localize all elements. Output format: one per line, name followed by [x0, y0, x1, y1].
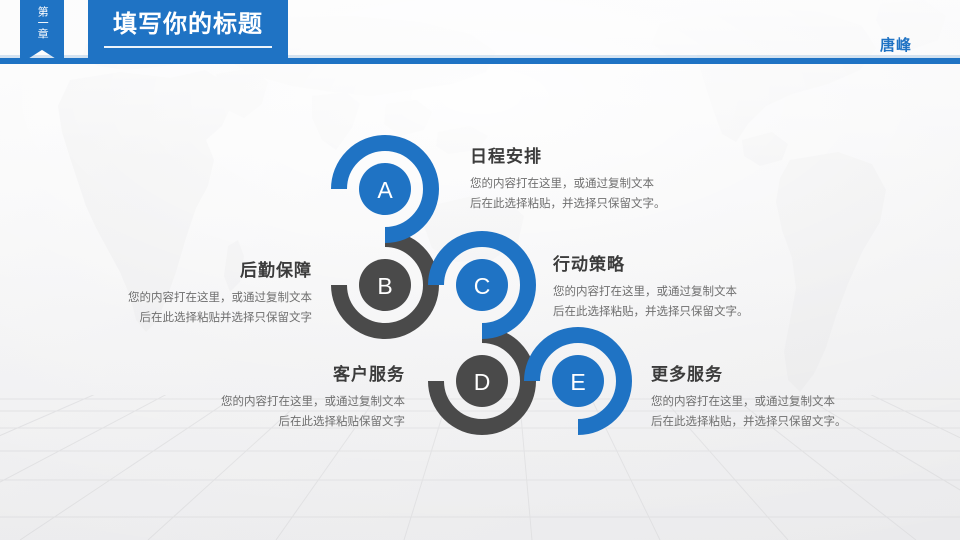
text-block-action: 行动策略 您的内容打在这里，或通过复制文本 后在此选择粘贴，并选择只保留文字。	[553, 250, 749, 322]
block-line: 您的内容打在这里，或通过复制文本	[651, 392, 847, 412]
node-ring-a	[339, 143, 431, 235]
block-body-schedule: 您的内容打在这里，或通过复制文本 后在此选择粘贴，并选择只保留文字。	[470, 174, 666, 214]
node-c-letter: C	[474, 273, 491, 299]
text-block-more: 更多服务 您的内容打在这里，或通过复制文本 后在此选择粘贴，并选择只保留文字。	[651, 360, 847, 432]
block-title-action: 行动策略	[553, 250, 749, 275]
node-ring-c	[436, 239, 528, 331]
text-block-logistics: 后勤保障 您的内容打在这里，或通过复制文本 后在此选择粘贴并选择只保留文字	[60, 256, 312, 328]
node-a[interactable]: A	[359, 163, 411, 215]
node-d-letter: D	[474, 369, 491, 395]
text-block-customer: 客户服务 您的内容打在这里，或通过复制文本 后在此选择粘贴保留文字	[150, 360, 405, 432]
node-b-letter: B	[377, 273, 392, 299]
slide-canvas: 第一章 填写你的标题 唐峰	[0, 0, 960, 540]
block-line: 您的内容打在这里，或通过复制文本	[60, 288, 312, 308]
block-line: 后在此选择粘贴，并选择只保留文字。	[553, 302, 749, 322]
block-body-logistics: 您的内容打在这里，或通过复制文本 后在此选择粘贴并选择只保留文字	[60, 288, 312, 328]
block-line: 后在此选择粘贴并选择只保留文字	[60, 308, 312, 328]
block-line: 后在此选择粘贴保留文字	[150, 412, 405, 432]
block-body-action: 您的内容打在这里，或通过复制文本 后在此选择粘贴，并选择只保留文字。	[553, 282, 749, 322]
node-ring-d	[436, 335, 528, 427]
block-title-customer: 客户服务	[150, 360, 405, 385]
node-e-letter: E	[570, 369, 585, 395]
node-a-letter: A	[377, 177, 393, 203]
node-b[interactable]: B	[359, 259, 411, 311]
header-accent-rule	[0, 58, 960, 64]
slide-header: 第一章 填写你的标题 唐峰	[0, 0, 960, 64]
block-body-customer: 您的内容打在这里，或通过复制文本 后在此选择粘贴保留文字	[150, 392, 405, 432]
text-block-schedule: 日程安排 您的内容打在这里，或通过复制文本 后在此选择粘贴，并选择只保留文字。	[470, 142, 666, 214]
block-title-more: 更多服务	[651, 360, 847, 385]
title-underline	[104, 46, 272, 48]
node-d[interactable]: D	[456, 355, 508, 407]
node-c[interactable]: C	[456, 259, 508, 311]
author-name: 唐峰	[880, 34, 912, 55]
node-ring-b	[339, 239, 431, 331]
block-title-schedule: 日程安排	[470, 142, 666, 167]
block-title-logistics: 后勤保障	[60, 256, 312, 281]
title-bar: 填写你的标题	[88, 0, 288, 58]
block-line: 您的内容打在这里，或通过复制文本	[553, 282, 749, 302]
block-line: 您的内容打在这里，或通过复制文本	[150, 392, 405, 412]
block-line: 后在此选择粘贴，并选择只保留文字。	[651, 412, 847, 432]
chapter-label: 第一章	[36, 6, 48, 39]
page-title: 填写你的标题	[113, 13, 263, 37]
block-line: 您的内容打在这里，或通过复制文本	[470, 174, 666, 194]
node-e[interactable]: E	[552, 355, 604, 407]
node-ring-e	[532, 335, 624, 427]
block-line: 后在此选择粘贴，并选择只保留文字。	[470, 194, 666, 214]
block-body-more: 您的内容打在这里，或通过复制文本 后在此选择粘贴，并选择只保留文字。	[651, 392, 847, 432]
